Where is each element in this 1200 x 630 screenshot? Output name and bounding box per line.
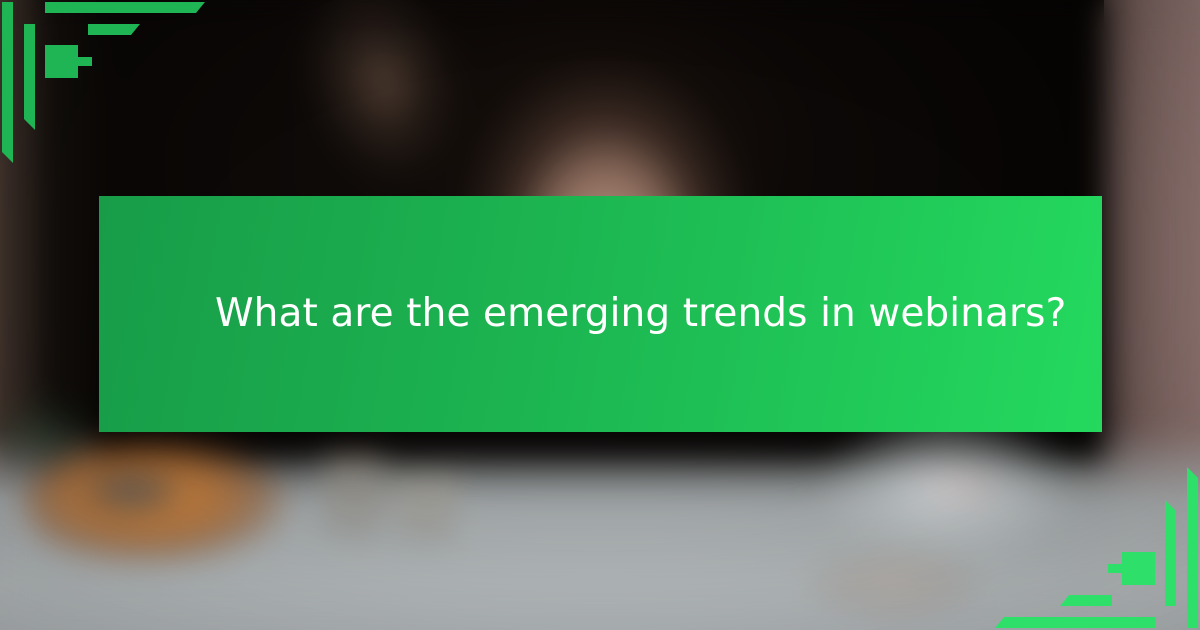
page-title: What are the emerging trends in webinars… (215, 290, 1066, 339)
title-banner: What are the emerging trends in webinars… (99, 196, 1102, 432)
share-card: What are the emerging trends in webinars… (0, 0, 1200, 630)
